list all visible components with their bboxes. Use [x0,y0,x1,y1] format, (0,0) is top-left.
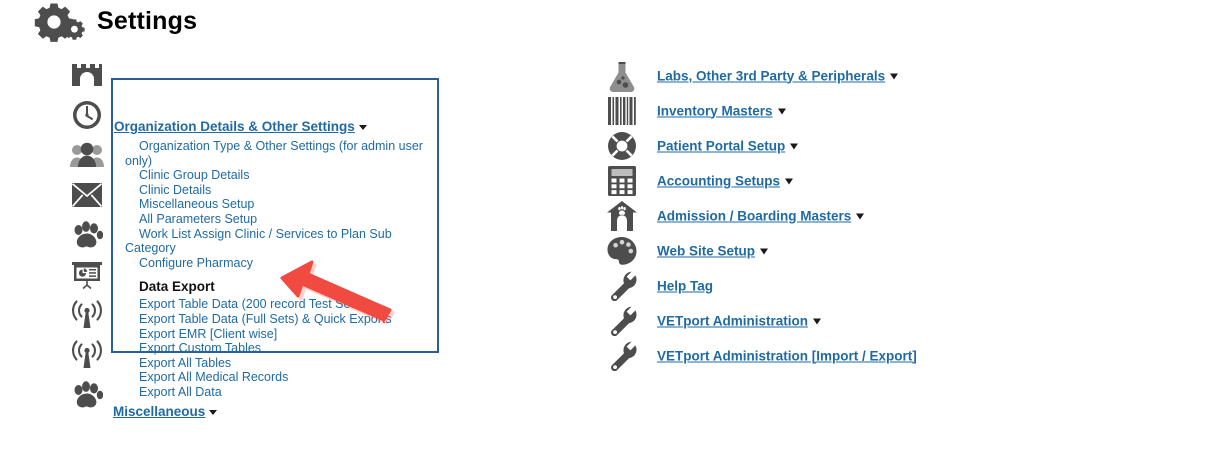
castle-tower-icon [64,55,110,95]
menu-row-admission-boarding-masters[interactable]: Admission / Boarding Masters [595,198,1025,233]
left-icon-rail [64,55,110,415]
list-item-export-emr-client-wise[interactable]: Export EMR [Client wise] [125,327,425,342]
wrench-icon [600,338,644,373]
clock-icon [64,95,110,135]
lifebuoy-icon [600,128,644,163]
menu-link-inventory-masters[interactable]: Inventory Masters [657,103,786,118]
group-link-organization-details[interactable]: Organization Details & Other Settings [114,119,367,134]
list-item[interactable]: Export All Medical Records [125,370,425,385]
menu-link-vetport-administration[interactable]: VETport Administration [657,313,821,328]
list-item[interactable]: Clinic Details [125,183,425,198]
list-item[interactable]: Export Custom Tables [125,341,425,356]
menu-link-labs-label: Labs, Other 3rd Party & Peripherals [657,68,885,83]
wrench-icon [600,303,644,338]
page-title: Settings [97,6,197,36]
dog-house-icon [600,198,644,233]
list-item[interactable]: All Parameters Setup [125,212,425,227]
menu-link-web-site-setup-label: Web Site Setup [657,243,755,258]
menu-link-admission-boarding-masters[interactable]: Admission / Boarding Masters [657,208,864,223]
right-column: Labs, Other 3rd Party & Peripherals Inve… [595,58,1025,373]
menu-link-inventory-masters-label: Inventory Masters [657,103,773,118]
menu-link-vetport-administration-import-export[interactable]: VETport Administration [Import / Export] [657,348,917,363]
menu-link-accounting-setups-label: Accounting Setups [657,173,780,188]
broadcast-antenna-icon [64,295,110,335]
menu-link-patient-portal-setup-label: Patient Portal Setup [657,138,785,153]
list-item[interactable]: Clinic Group Details [125,168,425,183]
menu-link-vetport-administration-import-export-label: VETport Administration [Import / Export] [657,348,917,363]
group-link-organization-details-label: Organization Details & Other Settings [114,119,355,134]
data-export-heading: Data Export [125,279,425,294]
menu-link-help-tag[interactable]: Help Tag [657,278,713,293]
list-item[interactable]: Work List Assign Clinic / Services to Pl… [125,227,425,256]
people-group-icon [64,135,110,175]
list-item[interactable]: Export All Tables [125,356,425,371]
menu-row-vetport-administration-import-export[interactable]: VETport Administration [Import / Export] [595,338,1025,373]
list-item[interactable]: Export All Data [125,385,425,400]
envelope-icon [64,175,110,215]
chevron-down-icon [760,248,768,254]
page-header: Settings [0,0,1217,50]
wrench-icon [600,268,644,303]
list-item[interactable]: Miscellaneous Setup [125,197,425,212]
chevron-down-icon [890,73,898,79]
menu-link-admission-boarding-masters-label: Admission / Boarding Masters [657,208,851,223]
paw-print-icon [64,215,110,255]
list-item[interactable]: Export Table Data (Full Sets) & Quick Ex… [125,312,425,327]
menu-link-vetport-administration-label: VETport Administration [657,313,808,328]
chevron-down-icon [813,318,821,324]
group-link-miscellaneous[interactable]: Miscellaneous [113,404,217,419]
flask-icon [600,58,644,93]
chevron-down-icon [209,410,217,415]
menu-link-patient-portal-setup[interactable]: Patient Portal Setup [657,138,798,153]
list-item[interactable]: Organization Type & Other Settings (for … [125,139,425,168]
menu-link-accounting-setups[interactable]: Accounting Setups [657,173,793,188]
calculator-icon [600,163,644,198]
menu-row-help-tag[interactable]: Help Tag [595,268,1025,303]
chevron-down-icon [778,108,786,114]
broadcast-antenna-icon [64,335,110,375]
gears-icon [27,1,85,45]
list-item[interactable]: Export Table Data (200 record Test Sets) [125,297,425,312]
chevron-down-icon [785,178,793,184]
menu-link-labs[interactable]: Labs, Other 3rd Party & Peripherals [657,68,898,83]
menu-row-vetport-administration[interactable]: VETport Administration [595,303,1025,338]
menu-link-help-tag-label: Help Tag [657,278,713,293]
menu-row-labs[interactable]: Labs, Other 3rd Party & Peripherals [595,58,1025,93]
group-link-miscellaneous-label: Miscellaneous [113,404,205,419]
menu-row-patient-portal-setup[interactable]: Patient Portal Setup [595,128,1025,163]
menu-row-inventory-masters[interactable]: Inventory Masters [595,93,1025,128]
menu-row-accounting-setups[interactable]: Accounting Setups [595,163,1025,198]
chevron-down-icon [790,143,798,149]
chevron-down-icon [856,213,864,219]
menu-link-web-site-setup[interactable]: Web Site Setup [657,243,768,258]
menu-row-web-site-setup[interactable]: Web Site Setup [595,233,1025,268]
list-item[interactable]: Configure Pharmacy [125,256,425,271]
paw-print-icon [64,375,110,415]
barcode-icon [600,93,644,128]
palette-icon [600,233,644,268]
organization-details-item-list: Organization Type & Other Settings (for … [125,139,425,400]
presentation-chart-icon [64,255,110,295]
chevron-down-icon [359,125,367,130]
